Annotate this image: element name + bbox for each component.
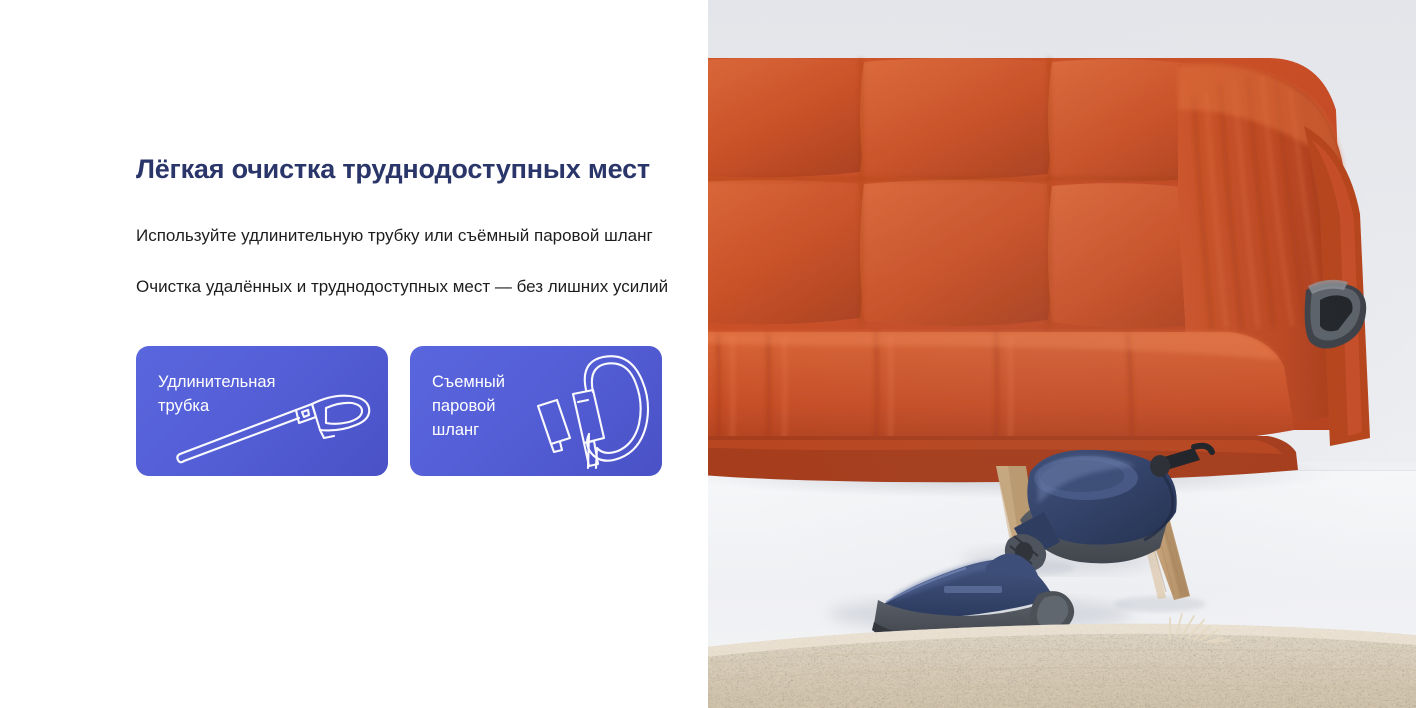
body-paragraph-1: Используйте удлинительную трубку или съё… — [136, 223, 696, 249]
body-copy: Используйте удлинительную трубку или съё… — [136, 223, 696, 300]
feature-card-list: Удлинительная трубка — [136, 346, 696, 476]
photo-illustration — [708, 0, 1416, 708]
feature-card-steam-hose[interactable]: Съемный паровой шланг — [410, 346, 662, 476]
content-column: Лёгкая очистка труднодоступных мест Испо… — [136, 152, 696, 476]
page-title: Лёгкая очистка труднодоступных мест — [136, 152, 696, 187]
body-paragraph-2: Очистка удалённых и труднодоступных мест… — [136, 274, 696, 300]
product-photo — [708, 0, 1416, 708]
feature-card-label: Удлинительная трубка — [158, 370, 275, 418]
feature-card-extension-tube[interactable]: Удлинительная трубка — [136, 346, 388, 476]
text-panel: Лёгкая очистка труднодоступных мест Испо… — [0, 0, 708, 708]
feature-card-label: Съемный паровой шланг — [432, 370, 505, 442]
promo-banner: Лёгкая очистка труднодоступных мест Испо… — [0, 0, 1416, 708]
